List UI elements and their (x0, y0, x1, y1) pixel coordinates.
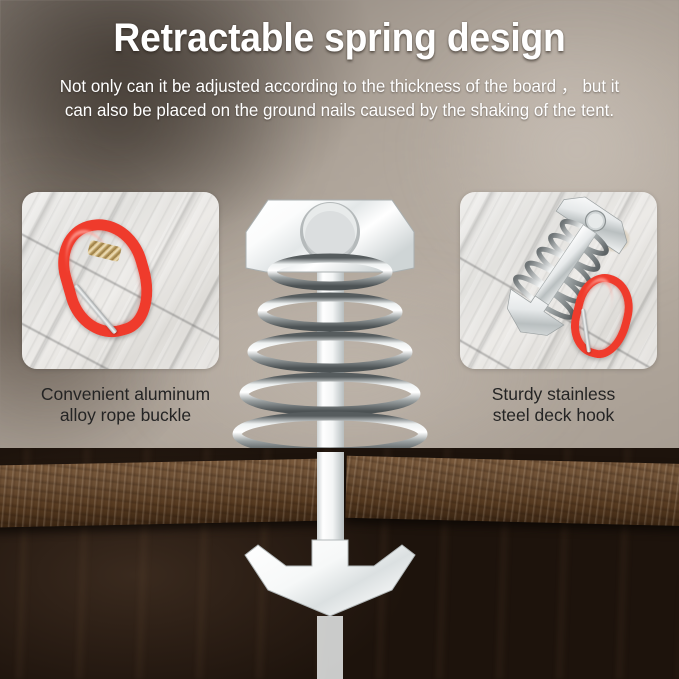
deck-boards (0, 448, 679, 679)
caption-line-1: Convenient aluminum (3, 384, 248, 405)
caption-deck-hook: Sturdy stainless steel deck hook (431, 384, 676, 427)
page-subtitle: Not only can it be adjusted according to… (24, 74, 655, 122)
subtitle-line-1: Not only can it be adjusted according to… (24, 74, 655, 98)
deck-board-right (345, 456, 679, 526)
inset-panel-deck-hook (460, 192, 657, 369)
caption-line-1: Sturdy stainless (431, 384, 676, 405)
deck-board-left (0, 458, 335, 527)
inset-panel-rope-buckle (22, 192, 219, 369)
caption-rope-buckle: Convenient aluminum alloy rope buckle (3, 384, 248, 427)
subtitle-line-2: can also be placed on the ground nails c… (24, 98, 655, 122)
caption-line-2: steel deck hook (431, 405, 676, 426)
page-title: Retractable spring design (24, 16, 655, 60)
caption-line-2: alloy rope buckle (3, 405, 248, 426)
product-feature-graphic: Retractable spring design Not only can i… (0, 0, 679, 679)
